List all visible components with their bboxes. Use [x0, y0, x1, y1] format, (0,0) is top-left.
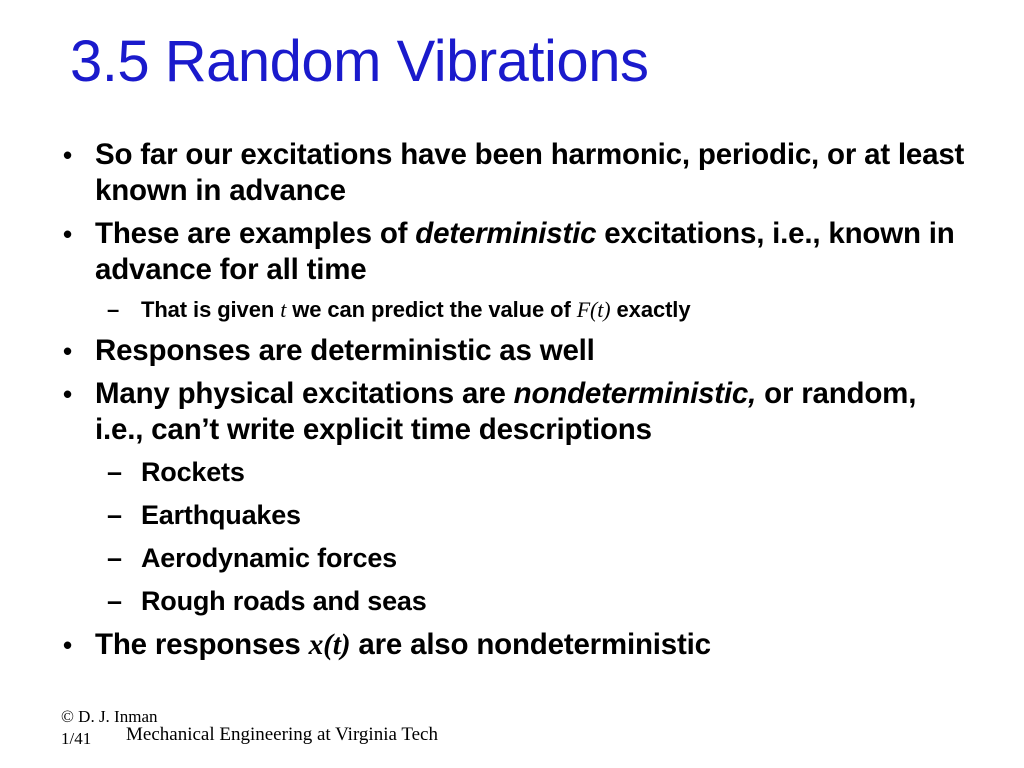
emphasis-nondeterministic: nondeterministic,	[514, 377, 756, 410]
slide-canvas: 3.5 Random Vibrations • So far our excit…	[0, 0, 1024, 768]
dash-icon: –	[107, 498, 141, 533]
sub-bullet-text: Rockets	[141, 455, 966, 490]
bullet-dot-icon: •	[58, 627, 95, 663]
sub-bullet-item: – That is given t we can predict the val…	[107, 295, 966, 325]
sub-bullet-text: Rough roads and seas	[141, 584, 966, 619]
bullet-text: Many physical excitations are nondetermi…	[95, 376, 966, 448]
sub-bullet-item: – Rough roads and seas	[107, 584, 966, 619]
bullet-dot-icon: •	[58, 376, 95, 412]
bullet-item: • Responses are deterministic as well	[58, 333, 966, 369]
bullet-dot-icon: •	[58, 333, 95, 369]
bullet-text: Responses are deterministic as well	[95, 333, 966, 369]
bullet-dot-icon: •	[58, 137, 95, 173]
dash-icon: –	[107, 584, 141, 619]
bullet-text: The responses x(t) are also nondetermini…	[95, 627, 966, 663]
footer-center: Mechanical Engineering at Virginia Tech	[0, 723, 1024, 747]
sub-bullet-item: – Rockets	[107, 455, 966, 490]
sub-bullet-text: Earthquakes	[141, 498, 966, 533]
bullet-item: • Many physical excitations are nondeter…	[58, 376, 966, 448]
bullet-text: These are examples of deterministic exci…	[95, 216, 966, 288]
bullet-item: • These are examples of deterministic ex…	[58, 216, 966, 288]
bullet-dot-icon: •	[58, 216, 95, 252]
math-function-xt: x(t)	[309, 629, 351, 661]
bullet-text: So far our excitations have been harmoni…	[95, 137, 966, 209]
dash-icon: –	[107, 455, 141, 490]
dash-icon: –	[107, 295, 141, 325]
footer-affiliation: Mechanical Engineering at Virginia Tech	[126, 723, 438, 747]
emphasis-deterministic: deterministic	[415, 217, 596, 250]
bullet-item: • The responses x(t) are also nondetermi…	[58, 627, 966, 663]
sub-bullet-text: That is given t we can predict the value…	[141, 295, 966, 325]
sub-bullet-item: – Earthquakes	[107, 498, 966, 533]
sub-bullet-item: – Aerodynamic forces	[107, 541, 966, 576]
page-title: 3.5 Random Vibrations	[70, 30, 648, 94]
bullet-item: • So far our excitations have been harmo…	[58, 137, 966, 209]
dash-icon: –	[107, 541, 141, 576]
sub-bullet-text: Aerodynamic forces	[141, 541, 966, 576]
bullet-list: • So far our excitations have been harmo…	[58, 137, 966, 670]
math-function-Ft: F(t)	[577, 297, 611, 322]
